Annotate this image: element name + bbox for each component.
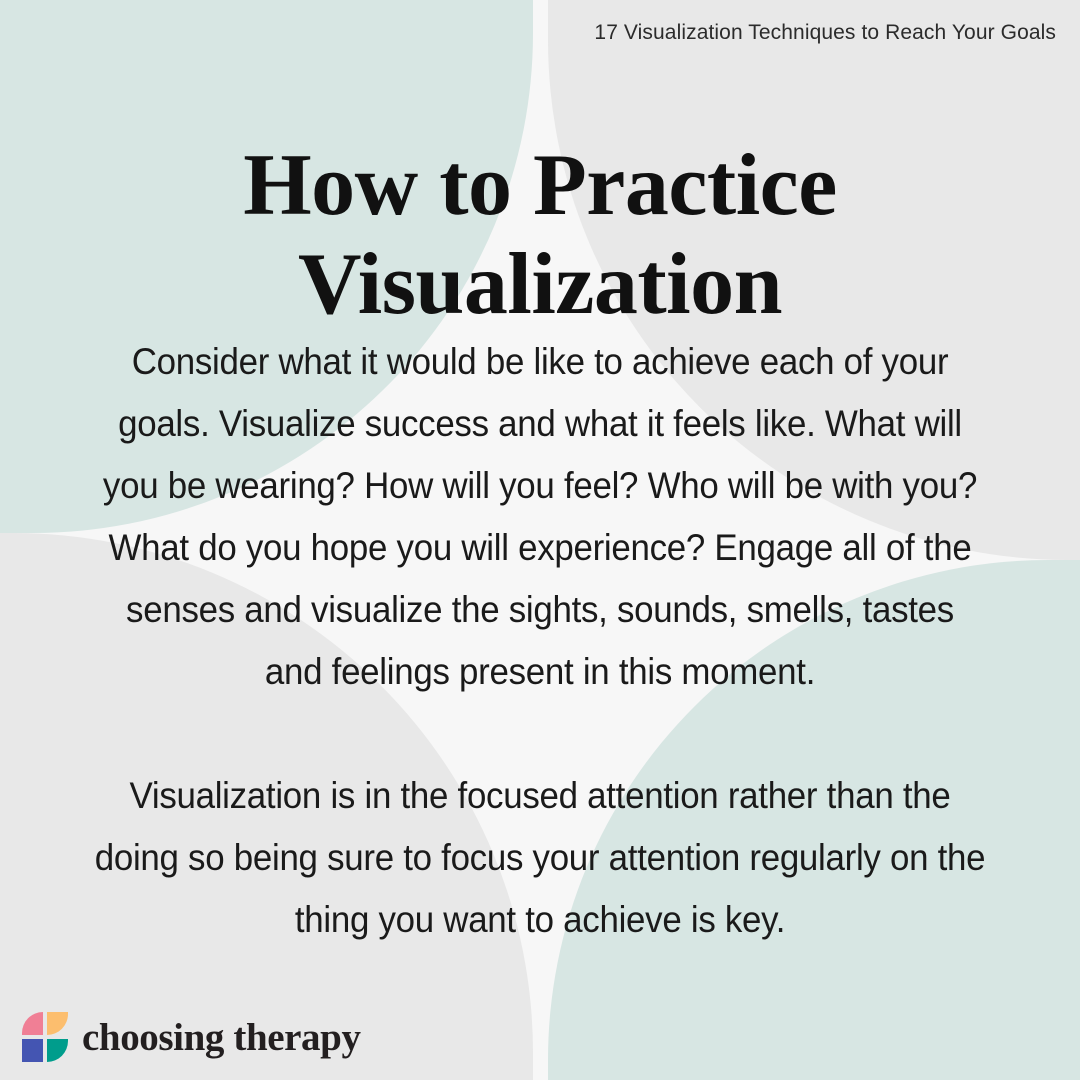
card-content: 17 Visualization Techniques to Reach You… (0, 0, 1080, 1080)
logo-quadrant-teal-icon (47, 1039, 68, 1062)
logo-quadrant-pink-icon (22, 1012, 43, 1035)
body-paragraph-1: Consider what it would be like to achiev… (94, 330, 987, 702)
page-title: How to Practice Visualization (0, 137, 1080, 334)
page-title-line-2: Visualization (298, 236, 782, 333)
page-title-line-1: How to Practice (243, 137, 837, 234)
logo-quadrant-orange-icon (47, 1012, 68, 1035)
choosing-therapy-pinwheel-logo-icon (22, 1012, 68, 1062)
article-kicker: 17 Visualization Techniques to Reach You… (594, 20, 1056, 45)
body-paragraph-2: Visualization is in the focused attentio… (94, 764, 987, 950)
brand-name: choosing therapy (82, 1018, 361, 1057)
brand-logo[interactable]: choosing therapy (22, 1012, 361, 1062)
social-quote-card: 17 Visualization Techniques to Reach You… (0, 0, 1080, 1080)
logo-quadrant-blue-icon (22, 1039, 43, 1062)
body-copy: Consider what it would be like to achiev… (60, 330, 1020, 950)
